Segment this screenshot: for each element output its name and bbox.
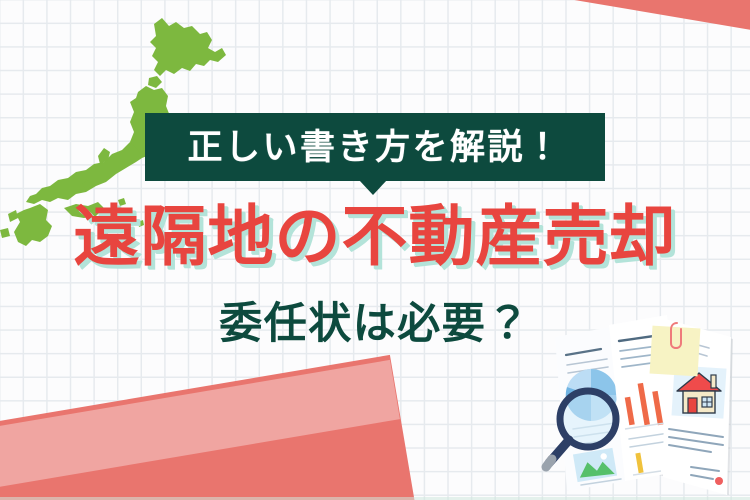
page-title: 遠隔地の不動産売却 bbox=[0, 203, 750, 269]
banner-pointer-triangle bbox=[359, 180, 387, 195]
banner-text: 正しい書き方を解説！ bbox=[187, 130, 562, 165]
sticky-note bbox=[650, 323, 701, 376]
documents-illustration bbox=[533, 305, 750, 500]
infographic-banner: 正しい書き方を解説！ 遠隔地の不動産売却 委任状は必要？ bbox=[0, 0, 750, 500]
banner-ribbon: 正しい書き方を解説！ bbox=[145, 113, 605, 181]
red-dot-marker bbox=[715, 477, 723, 485]
